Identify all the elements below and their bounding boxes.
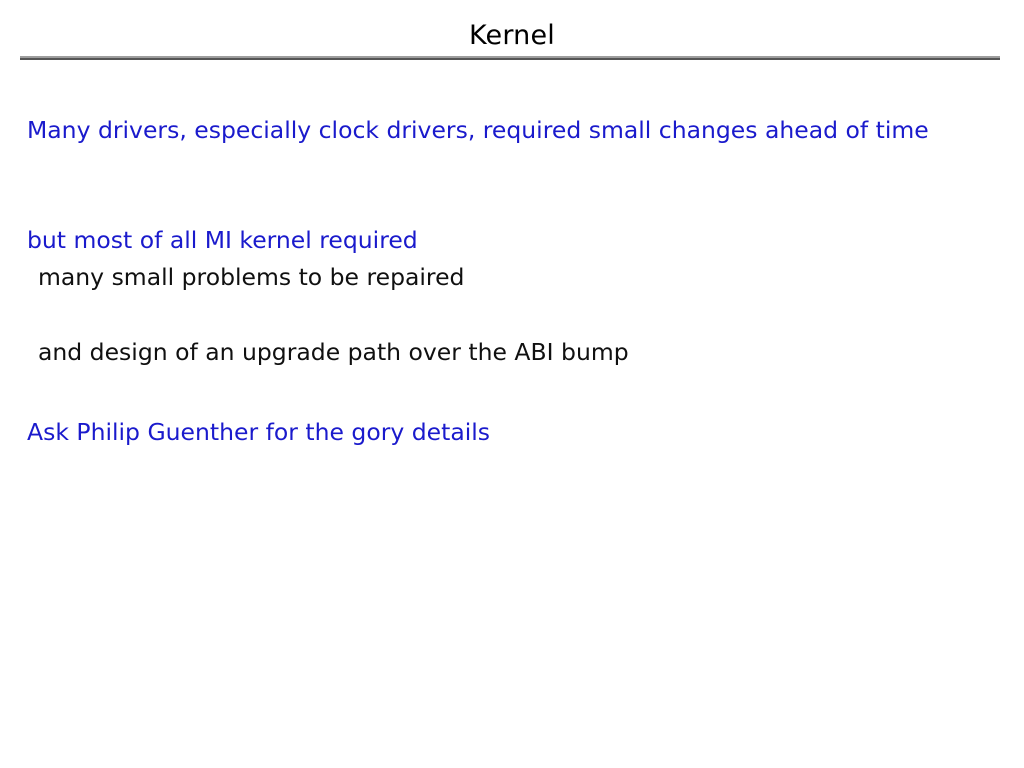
bullet-upgrade-path: and design of an upgrade path over the A…	[38, 337, 629, 367]
bullet-mi-kernel-head: but most of all MI kernel required	[27, 225, 418, 255]
bullet-mi-kernel-sub: many small problems to be repaired	[38, 262, 464, 292]
bullet-ask-philip: Ask Philip Guenther for the gory details	[27, 417, 490, 447]
bullet-drivers-note: Many drivers, especially clock drivers, …	[27, 113, 993, 148]
slide-body: Many drivers, especially clock drivers, …	[0, 0, 1024, 768]
slide: Kernel Many drivers, especially clock dr…	[0, 0, 1024, 768]
